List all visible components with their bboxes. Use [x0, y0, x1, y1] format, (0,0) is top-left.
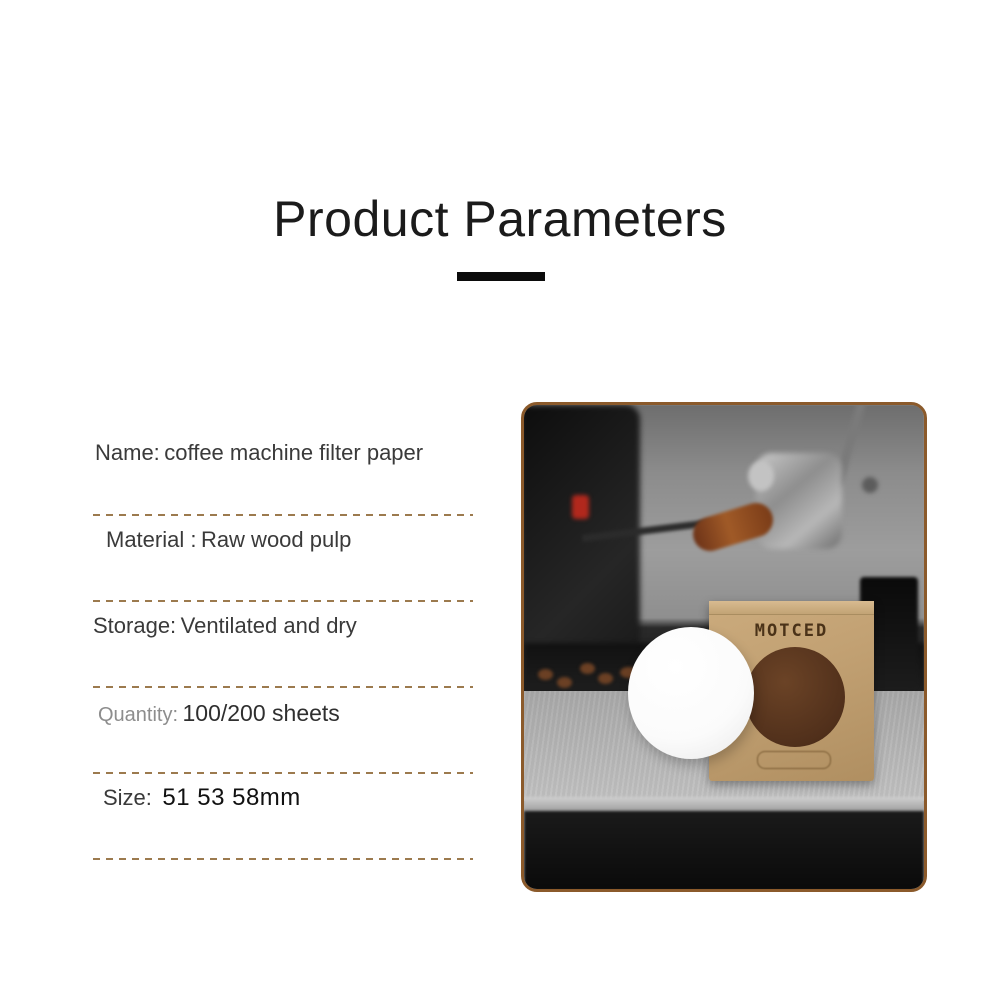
spec-row-name-text: Name: coffee machine filter paper [95, 440, 423, 466]
kraft-box-spec-tag [757, 751, 831, 769]
machine-knob [748, 461, 774, 491]
spec-value-size: 51 53 58mm [162, 784, 300, 811]
spec-row-quantity: Quantity: 100/200 sheets [93, 688, 473, 774]
spec-value-storage: Ventilated and dry [181, 613, 357, 638]
spec-list: Name: coffee machine filter paper Materi… [93, 430, 473, 860]
spec-row-material-text: Material : Raw wood pulp [106, 527, 351, 553]
kraft-box-circle-window [745, 647, 845, 747]
white-filter-paper-disc [628, 627, 754, 759]
product-photo-image: MOTCED [524, 405, 924, 889]
coffee-bean [557, 677, 572, 688]
spec-row-quantity-text: Quantity: 100/200 sheets [98, 700, 340, 727]
kraft-box-lid [709, 601, 874, 615]
title-underline-rule [457, 272, 545, 281]
spec-divider-5 [93, 858, 473, 860]
steam-wand-tip [862, 477, 878, 493]
spec-value-name: coffee machine filter paper [164, 440, 423, 465]
spec-label-name: Name: [95, 440, 160, 465]
spec-label-material: Material : [106, 527, 196, 552]
counter-front-shadow [524, 811, 924, 889]
brand-logo: MOTCED [709, 621, 874, 641]
spec-row-storage-text: Storage: Ventilated and dry [93, 613, 357, 639]
spec-value-material: Raw wood pulp [201, 527, 351, 552]
spec-row-name: Name: coffee machine filter paper [93, 430, 473, 516]
coffee-bean [538, 669, 553, 680]
spec-row-material: Material : Raw wood pulp [93, 516, 473, 602]
spec-row-size-text: Size: 51 53 58mm [103, 784, 301, 812]
product-photo: MOTCED [521, 402, 927, 892]
spec-label-size: Size: [103, 785, 152, 810]
machine-power-switch [572, 495, 589, 519]
page-title: Product Parameters [0, 190, 1000, 248]
spec-row-storage: Storage: Ventilated and dry [93, 602, 473, 688]
coffee-bean [580, 663, 595, 674]
coffee-bean [598, 673, 613, 684]
spec-label-quantity: Quantity: [98, 704, 178, 726]
spec-label-storage: Storage: [93, 613, 176, 638]
spec-value-quantity: 100/200 sheets [183, 700, 340, 726]
spec-row-size: Size: 51 53 58mm [93, 774, 473, 860]
